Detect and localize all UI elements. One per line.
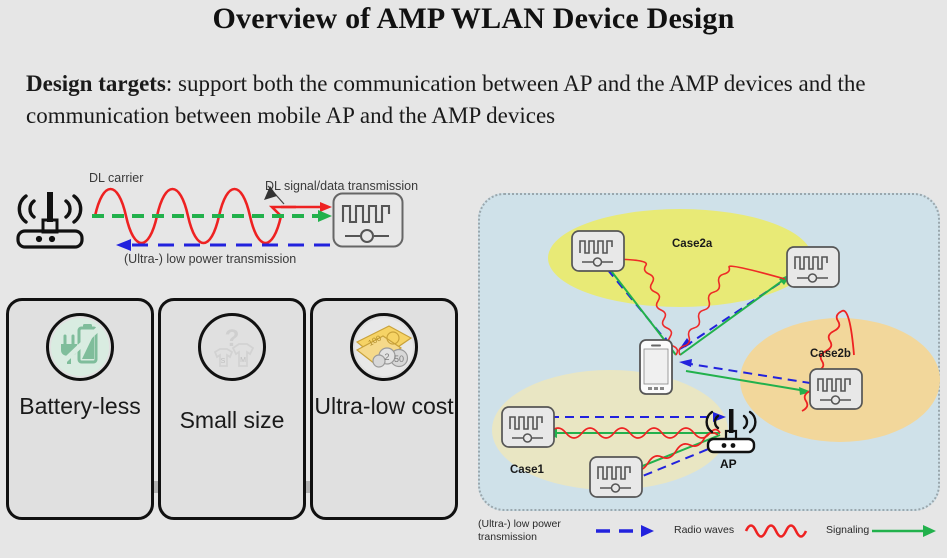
feature-cards: Battery-less ? S M Small size bbox=[6, 298, 458, 520]
amp-device-icon bbox=[572, 231, 624, 271]
ultra-low-cost-icon: 100 2 50 bbox=[350, 313, 418, 381]
small-size-icon: ? S M bbox=[198, 313, 266, 381]
amp-device-icon bbox=[590, 457, 642, 497]
svg-text:S: S bbox=[221, 358, 226, 365]
ap-label: AP bbox=[720, 457, 737, 471]
legend-swatches bbox=[478, 514, 940, 554]
left-link-diagram: DL carrier DL signal/data transmission (… bbox=[0, 160, 470, 285]
case2b-label: Case2b bbox=[810, 348, 851, 360]
amp-device-icon bbox=[502, 407, 554, 447]
svg-text:2: 2 bbox=[384, 352, 389, 362]
card-small-size-label: Small size bbox=[161, 407, 303, 434]
topology-panel: Case2a Case2b Case1 AP bbox=[478, 193, 940, 511]
design-targets-lead: Design targets bbox=[26, 71, 166, 96]
card-battery-less[interactable]: Battery-less bbox=[6, 298, 154, 520]
svg-text:50: 50 bbox=[394, 354, 404, 364]
legend: (Ultra-) low power transmission Radio wa… bbox=[478, 514, 940, 554]
card-battery-less-label: Battery-less bbox=[9, 393, 151, 420]
slide-root: Overview of AMP WLAN Device Design Desig… bbox=[0, 0, 947, 558]
card-ultra-low-cost[interactable]: 100 2 50 Ultra-low cost bbox=[310, 298, 458, 520]
mobile-phone-icon bbox=[640, 340, 672, 394]
amp-device-icon bbox=[332, 192, 404, 248]
svg-text:M: M bbox=[240, 357, 246, 364]
page-title: Overview of AMP WLAN Device Design bbox=[0, 2, 947, 36]
battery-less-icon bbox=[46, 313, 114, 381]
design-targets-text: Design targets: support both the communi… bbox=[26, 68, 931, 131]
case2a-label: Case2a bbox=[672, 238, 712, 250]
amp-device-icon bbox=[810, 369, 862, 409]
case1-label: Case1 bbox=[510, 464, 544, 476]
card-small-size[interactable]: ? S M Small size bbox=[158, 298, 306, 520]
amp-device-icon bbox=[787, 247, 839, 287]
card-ultra-low-cost-label: Ultra-low cost bbox=[313, 393, 455, 420]
